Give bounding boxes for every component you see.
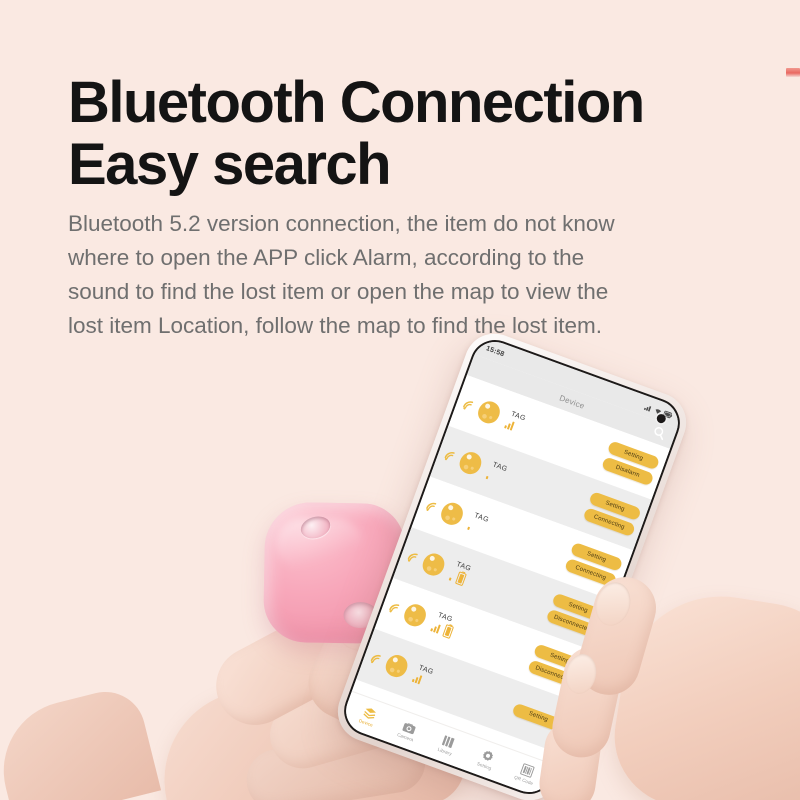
headline-line-1: Bluetooth Connection bbox=[68, 70, 644, 135]
nav-item-setting[interactable]: Setting bbox=[464, 743, 510, 776]
promo-banner: Bluetooth Connection Easy search Bluetoo… bbox=[0, 0, 800, 800]
signal-icon bbox=[644, 403, 654, 412]
description-line-4: lost item Location, follow the map to fi… bbox=[68, 309, 728, 343]
signal-strength-icon bbox=[486, 469, 491, 479]
device-list[interactable]: TAG Setting Disalarm bbox=[352, 375, 670, 765]
signal-strength-icon bbox=[430, 621, 441, 633]
row-indicators bbox=[482, 467, 491, 478]
row-actions: Setting Connecting bbox=[583, 491, 642, 537]
right-palm bbox=[605, 582, 800, 800]
status-time: 15:58 bbox=[485, 345, 505, 358]
signal-strength-icon bbox=[467, 520, 472, 530]
headline-line-2: Easy search bbox=[68, 134, 748, 197]
edge-artifact bbox=[786, 68, 800, 77]
nav-item-library[interactable]: Library bbox=[424, 729, 470, 762]
nav-item-camera[interactable]: Camera bbox=[385, 714, 431, 747]
signal-strength-icon bbox=[504, 418, 515, 430]
nav-item-device[interactable]: Device bbox=[345, 700, 391, 733]
row-actions: Setting Disconnected bbox=[527, 643, 586, 689]
description-line-2: where to open the APP click Alarm, accor… bbox=[68, 241, 728, 275]
search-icon bbox=[651, 424, 668, 441]
nav-item-qrcode[interactable]: QR Code bbox=[503, 757, 549, 790]
description-line-1: Bluetooth 5.2 version connection, the it… bbox=[68, 207, 728, 241]
description-paragraph: Bluetooth 5.2 version connection, the it… bbox=[68, 207, 728, 343]
row-actions: Setting Connecting bbox=[564, 542, 623, 588]
signal-strength-icon bbox=[412, 672, 423, 684]
description-line-3: sound to find the lost item or open the … bbox=[68, 275, 728, 309]
right-wrist bbox=[676, 719, 800, 800]
left-wrist bbox=[0, 683, 161, 800]
signal-strength-icon bbox=[449, 570, 454, 580]
page-title: Bluetooth Connection Easy search bbox=[68, 72, 748, 197]
row-indicators bbox=[501, 417, 516, 431]
row-actions: Setting bbox=[512, 702, 565, 732]
battery-level-icon bbox=[442, 624, 454, 639]
row-actions: Setting Disalarm bbox=[601, 440, 660, 486]
row-indicators bbox=[408, 670, 423, 684]
phone-screen: 15:58 bbox=[337, 333, 687, 800]
row-actions: Setting Disconnected bbox=[546, 593, 605, 639]
app-bar-title: Device bbox=[558, 393, 586, 410]
setting-button[interactable]: Setting bbox=[512, 702, 565, 732]
battery-level-icon bbox=[455, 571, 467, 586]
row-indicators bbox=[464, 518, 473, 529]
